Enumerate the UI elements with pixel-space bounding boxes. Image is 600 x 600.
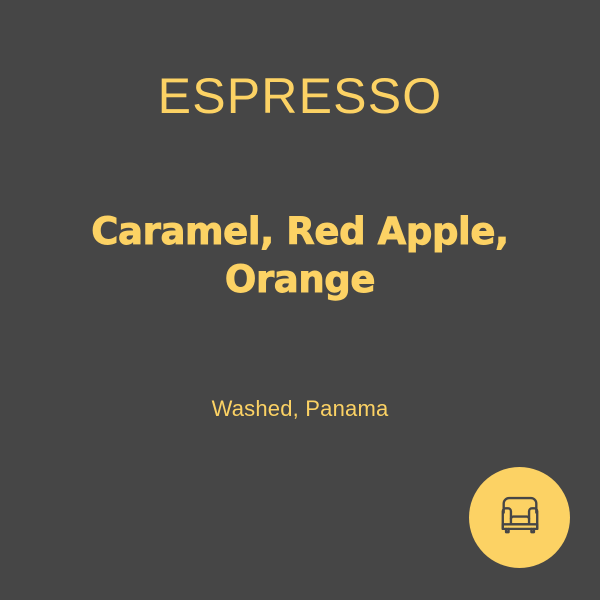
page-title: ESPRESSO: [0, 64, 600, 128]
origin-process-text: Washed, Panama: [0, 394, 600, 424]
coffee-label-card: ESPRESSO Caramel, Red Apple, Orange Wash…: [0, 0, 600, 600]
tasting-notes-text: Caramel, Red Apple, Orange: [60, 208, 540, 304]
brand-badge: [469, 467, 570, 568]
sofa-icon: [491, 489, 549, 547]
